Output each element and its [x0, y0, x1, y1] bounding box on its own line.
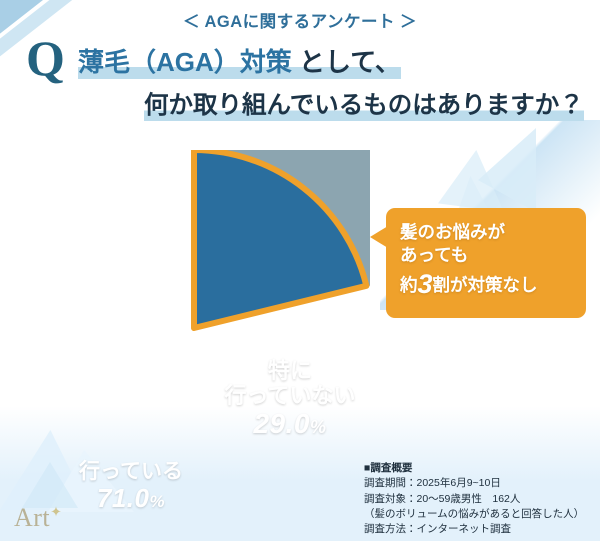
- survey-method: 調査方法：インターネット調査: [364, 522, 596, 537]
- callout-line-2: あっても: [400, 244, 572, 267]
- title-rest-text: として、: [292, 47, 401, 79]
- sparkle-icon: ✦: [50, 505, 62, 520]
- page-title-line-2: 何か取り組んでいるものはありますか？: [144, 86, 584, 121]
- callout-line-1: 髪のお悩みが: [400, 221, 572, 244]
- origami-shape-icon: [478, 128, 536, 212]
- survey-period: 調査期間：2025年6月9~10日: [364, 476, 596, 491]
- header: ＜ AGAに関するアンケート ＞ Q 薄毛（AGA）対策 として、 何か取り組ん…: [0, 0, 600, 128]
- pie-label-gray: 行っている 71.0%: [46, 460, 216, 514]
- brand-logo-name: Art: [14, 503, 50, 532]
- pie-chart-svg: [14, 150, 370, 506]
- pie-label-blue-value: 29.0%: [200, 408, 380, 440]
- title-highlight-text: 薄毛（AGA）対策: [78, 47, 292, 79]
- callout-emphasis-number: 3: [418, 269, 433, 299]
- callout-box: 髪のお悩みが あっても 約3割が対策なし: [386, 208, 586, 318]
- pie-label-gray-line1: 行っている: [46, 460, 216, 484]
- title-line2-text: 何か取り組んでいるものはありますか？: [144, 92, 584, 121]
- infographic-page: ＜ AGAに関するアンケート ＞ Q 薄毛（AGA）対策 として、 何か取り組ん…: [0, 0, 600, 541]
- survey-summary: ■調査概要 調査期間：2025年6月9~10日 調査対象：20〜59歳男性 16…: [364, 461, 596, 538]
- pie-chart: 特に 行っていない 29.0% 行っている 71.0%: [14, 150, 370, 506]
- eyebrow-label: ＜ AGAに関するアンケート ＞: [0, 8, 600, 32]
- brand-logo: Art✦: [14, 503, 62, 533]
- page-title-line-1: 薄毛（AGA）対策 として、: [78, 42, 401, 79]
- pie-label-blue-line1: 特に: [200, 358, 380, 383]
- question-mark-icon: Q: [26, 33, 65, 83]
- origami-shape-icon: [438, 150, 504, 212]
- callout-line-3: 約3割が対策なし: [400, 267, 572, 303]
- survey-heading: ■調査概要: [364, 461, 596, 476]
- survey-target-note: （髪のボリュームの悩みがあると回答した人）: [364, 507, 596, 522]
- survey-target: 調査対象：20〜59歳男性 162人: [364, 492, 596, 507]
- pie-label-blue: 特に 行っていない 29.0%: [200, 358, 380, 440]
- pie-label-blue-line2: 行っていない: [200, 383, 380, 408]
- pie-label-gray-value: 71.0%: [46, 484, 216, 514]
